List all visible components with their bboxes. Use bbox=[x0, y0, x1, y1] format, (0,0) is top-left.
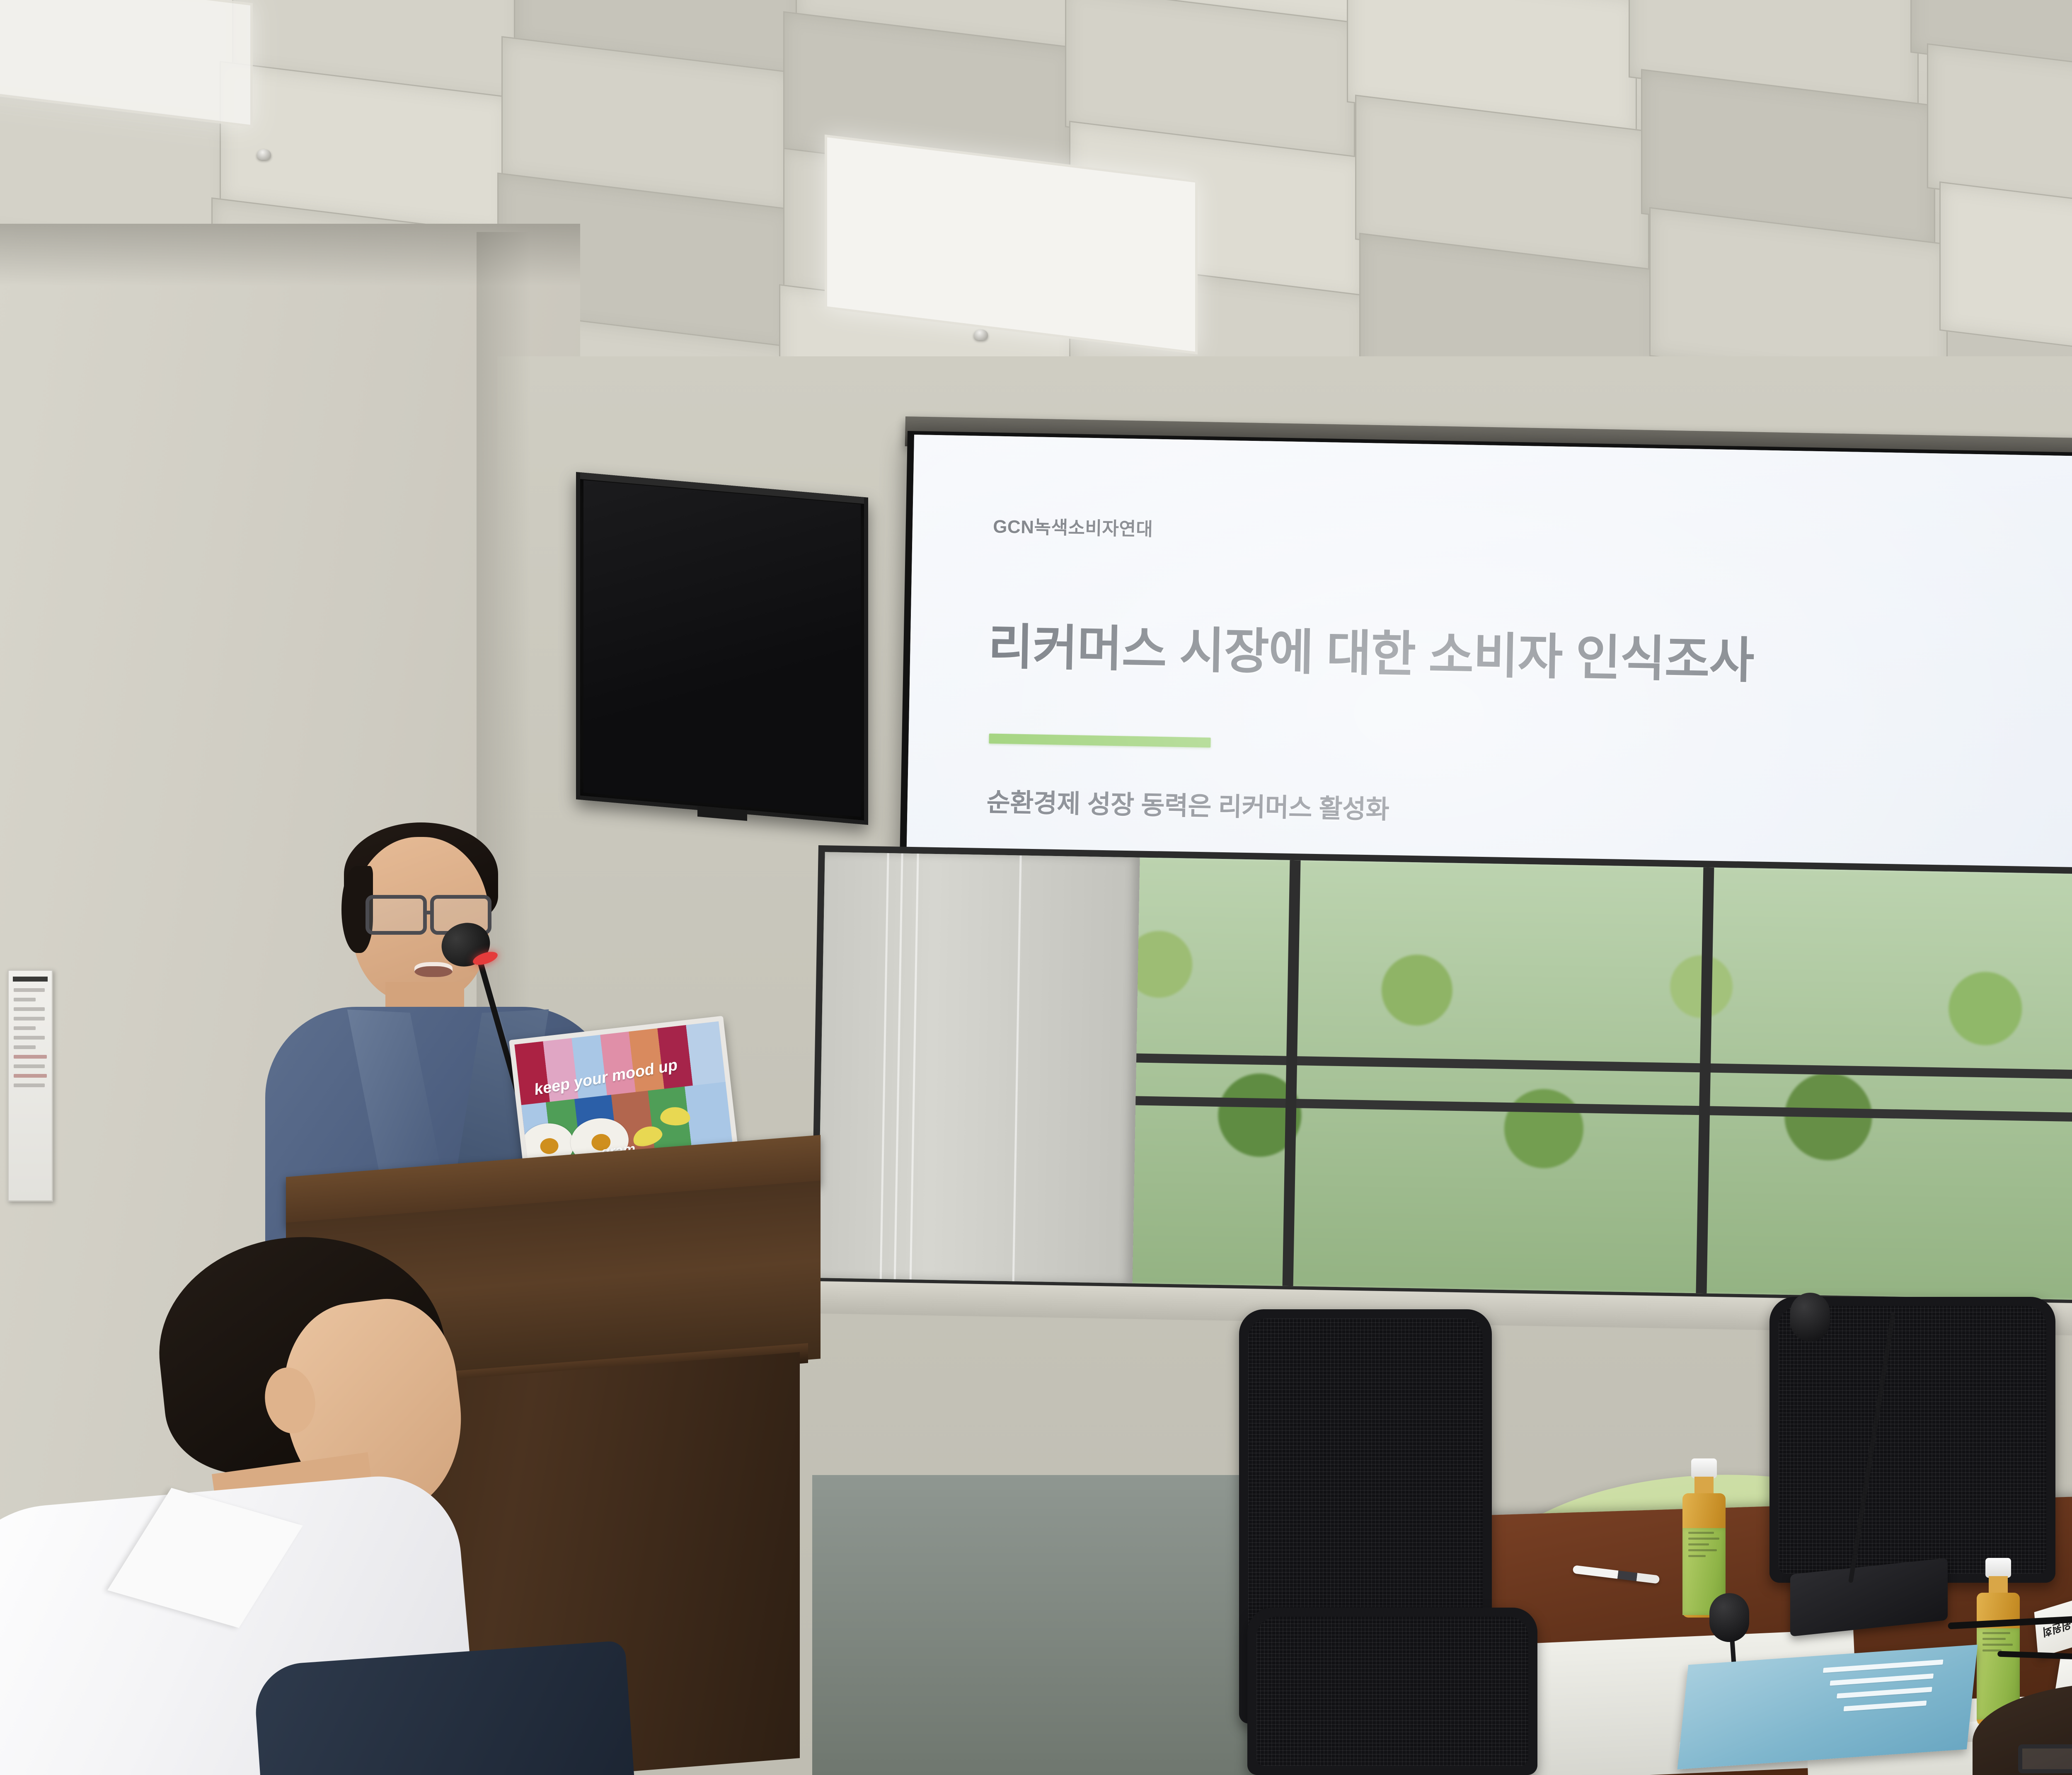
wall-notice bbox=[7, 970, 53, 1202]
slide-title: 리커머스 시장에 대한 소비자 인식조사 bbox=[988, 607, 1755, 692]
window-blind[interactable] bbox=[818, 852, 1140, 1283]
desk-microphone-head-near bbox=[1709, 1593, 1749, 1642]
eyeglasses-bridge bbox=[426, 911, 433, 914]
window bbox=[811, 845, 2072, 1307]
eyeglasses-left-lens bbox=[366, 895, 427, 935]
sprinkler-head-2 bbox=[257, 149, 271, 160]
conference-room-photo: GCN녹색소비자연대 리커머스 시장에 대한 소비자 인식조사 순환경제 성장 … bbox=[0, 0, 2072, 1775]
office-chair-center[interactable] bbox=[1247, 1608, 1537, 1775]
booklet[interactable] bbox=[1677, 1644, 1978, 1769]
sprinkler-head bbox=[974, 329, 988, 340]
wall-shadow bbox=[0, 224, 580, 286]
presenter-mouth bbox=[414, 962, 453, 977]
wall-monitor-left bbox=[576, 472, 868, 825]
desk-microphone-head-right bbox=[1790, 1293, 1830, 1342]
bottle-cap bbox=[1691, 1458, 1717, 1478]
slide-subtitle: 순환경제 성장 동력은 리커머스 활성화 bbox=[986, 781, 1389, 826]
bottle-cap-2 bbox=[1985, 1558, 2011, 1578]
foreground-attendee-glasses bbox=[2018, 1744, 2072, 1773]
slide-organization-label: GCN녹색소비자연대 bbox=[993, 511, 1153, 541]
